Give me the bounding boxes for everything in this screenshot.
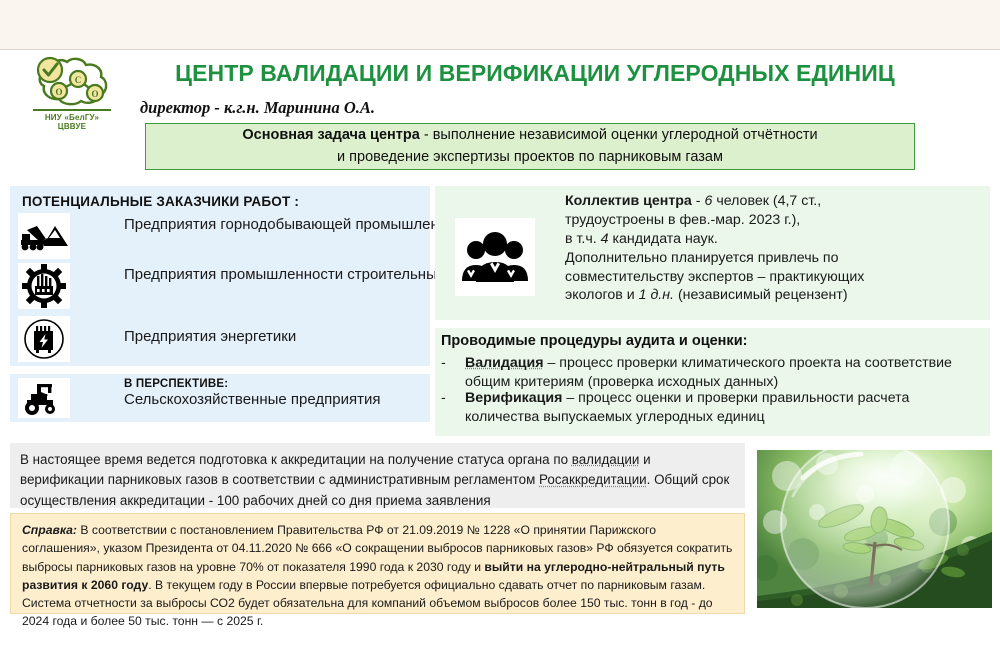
spravka-label: Справка: (22, 523, 77, 537)
audit-body-verification: Верификация – процесс оценки и проверки … (465, 389, 986, 427)
logo-divider (33, 109, 111, 111)
customer-item-mining: Предприятия горнодобывающей промышленнос… (18, 213, 478, 259)
team-dash: - (696, 193, 701, 209)
svg-text:O: O (91, 89, 98, 99)
audit-bullet-dash: - (441, 354, 465, 392)
audit-body-validation: Валидация – процесс проверки климатическ… (465, 354, 986, 392)
audit-term-validation: Валидация (465, 355, 544, 371)
team-after-count: человек (4,7 ст., (716, 193, 821, 209)
audit-term-verification: Верификация (465, 390, 562, 406)
main-task-line-2: и проведение экспертизы проектов по парн… (337, 147, 723, 168)
team-line4: Дополнительно планируется привлечь по (565, 250, 839, 266)
customer-label-energy: Предприятия энергетики (70, 316, 296, 347)
customer-label-mining: Предприятия горнодобывающей промышленнос… (70, 213, 478, 235)
logo-caption-line2: ЦВВУЕ (58, 122, 86, 131)
excavator-mining-icon (18, 213, 70, 259)
audit-heading: Проводимые процедуры аудита и оценки: (441, 333, 747, 349)
accred-part1: В настоящее время ведется подготовка к а… (20, 452, 572, 467)
svg-text:O: O (55, 87, 62, 97)
team-label: Коллектив центра (565, 193, 692, 209)
customers-heading: ПОТЕНЦИАЛЬНЫЕ ЗАКАЗЧИКИ РАБОТ : (22, 194, 299, 209)
accred-term-validation: валидации (572, 452, 640, 467)
svg-text:C: C (75, 75, 82, 85)
logo-caption-line1: НИУ «БелГУ» (45, 113, 99, 122)
team-line2: трудоустроены в фев.-мар. 2023 г.), (565, 212, 800, 228)
tractor-icon (18, 378, 70, 418)
team-line3-em: 4 (601, 231, 609, 247)
accred-term-rosakkreditatsiya: Росаккредитации (539, 472, 647, 487)
page-title: ЦЕНТР ВАЛИДАЦИИ И ВЕРИФИКАЦИИ УГЛЕРОДНЫХ… (140, 60, 930, 87)
logo-caption: НИУ «БелГУ» ЦВВУЕ (45, 113, 99, 131)
main-task-dash-glyph: - (424, 127, 429, 143)
team-line3-suffix: кандидата наук. (612, 231, 717, 247)
slide-canvas: C O O НИУ «БелГУ» ЦВВУЕ ЦЕНТР ВАЛИДАЦИИ … (0, 0, 1000, 667)
audit-item-verification: - Верификация – процесс оценки и проверк… (441, 389, 986, 427)
future-label: В ПЕРСПЕКТИВЕ: (124, 378, 380, 390)
future-text: Сельскохозяйственные предприятия (124, 390, 380, 410)
future-customer-item: В ПЕРСПЕКТИВЕ: Сельскохозяйственные пред… (18, 378, 380, 418)
team-line5: совместительству экспертов – практикующи… (565, 269, 864, 285)
team-line6-em: 1 д.н. (639, 287, 674, 303)
team-line3-prefix: в т.ч. (565, 231, 597, 247)
gear-factory-icon (18, 263, 70, 309)
logo: C O O НИУ «БелГУ» ЦВВУЕ (18, 56, 126, 134)
future-customer-text-block: В ПЕРСПЕКТИВЕ: Сельскохозяйственные пред… (70, 378, 380, 410)
people-group-icon (455, 218, 535, 296)
team-count: 6 (704, 193, 712, 209)
team-description: Коллектив центра - 6 человек (4,7 ст., т… (565, 192, 980, 305)
accreditation-note: В настоящее время ведется подготовка к а… (10, 443, 745, 508)
director-line: директор - к.г.н. Маринина О.А. (140, 98, 375, 118)
audit-item-validation: - Валидация – процесс проверки климатиче… (441, 354, 986, 392)
spravka-note: Справка: В соответствии с постановлением… (10, 513, 745, 614)
main-task-box: Основная задача центра - выполнение неза… (145, 123, 915, 170)
audit-bullet-dash-2: - (441, 389, 465, 427)
main-task-line-1: Основная задача центра - выполнение неза… (242, 125, 817, 146)
nature-sapling-bubble-photo (757, 450, 992, 608)
customer-item-energy: Предприятия энергетики (18, 316, 296, 362)
team-line6-suffix: (независимый рецензент) (678, 287, 848, 303)
main-task-rest: выполнение независимой оценки углеродной… (433, 127, 818, 143)
main-task-label: Основная задача центра (242, 127, 419, 143)
power-transformer-icon (18, 316, 70, 362)
top-band (0, 0, 1000, 50)
team-line6-prefix: экологов и (565, 287, 635, 303)
logo-mark-icon: C O O (31, 56, 113, 108)
